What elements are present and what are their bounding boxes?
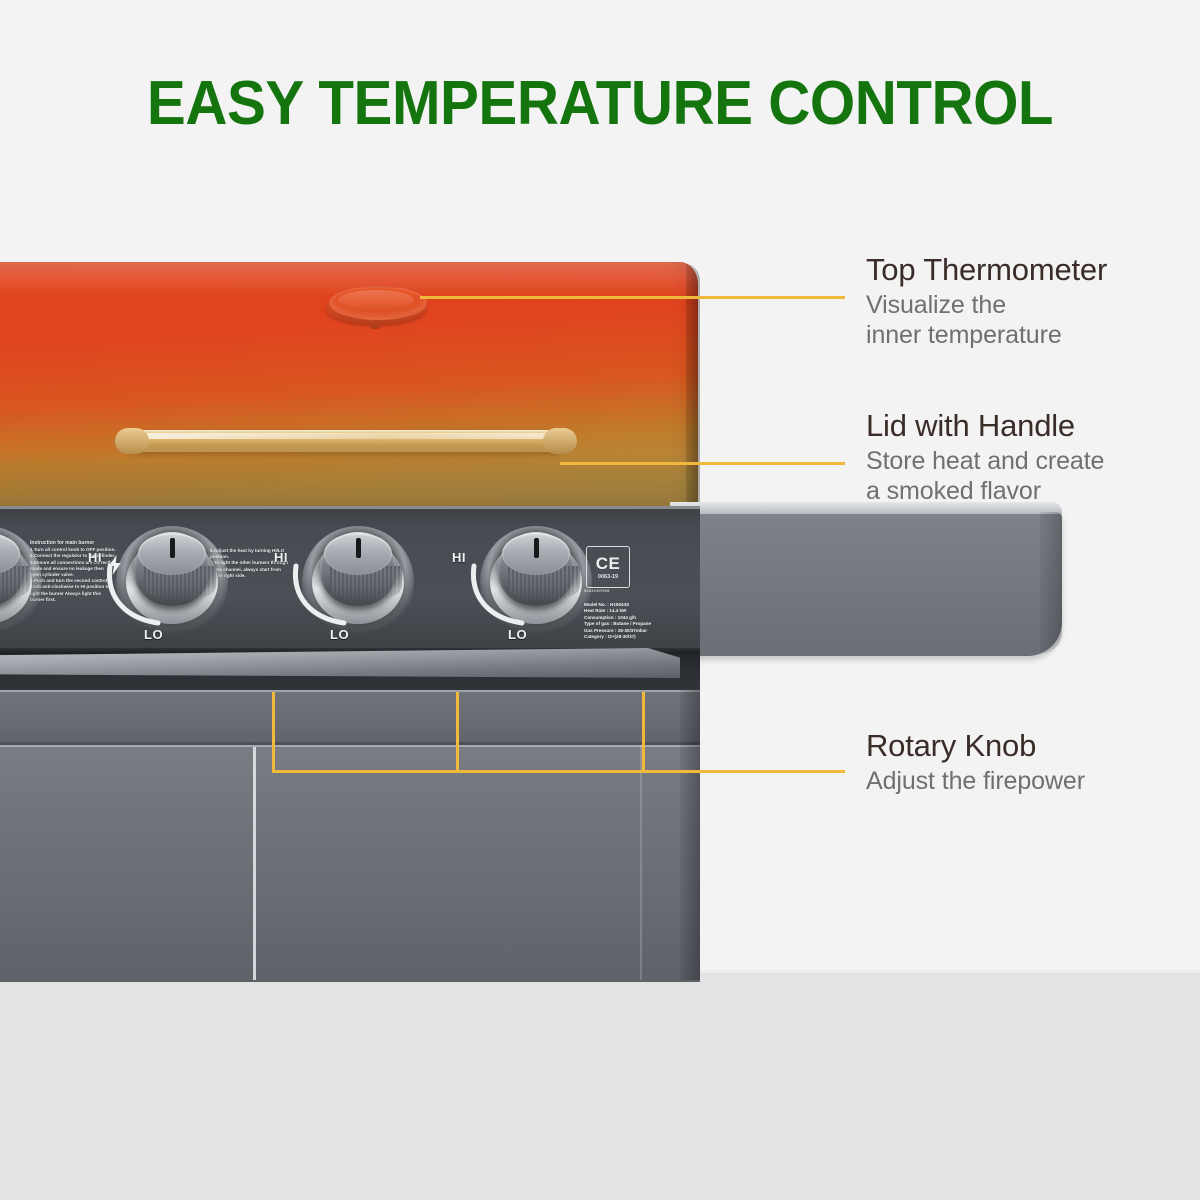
knob-pointer (356, 538, 361, 558)
spec-line: Heat Rate : 14.4 kW (584, 608, 626, 613)
page-title: EASY TEMPERATURE CONTROL (36, 68, 1164, 139)
leader-line-handle (560, 462, 845, 465)
callout-desc-line-1: Store heat and create (866, 446, 1200, 476)
grill-product-image: Sunny Instruction for main burner 1.Turn… (0, 250, 830, 980)
knob-4-lo-label: LO (508, 627, 527, 642)
lid-handle (125, 428, 565, 454)
instruction-step: 1.Turn all control knob to OFF position. (30, 547, 116, 552)
callout-desc-line-2: a smoked flavor (866, 476, 1200, 506)
knob-pointer (534, 538, 539, 558)
knob-4-range-arc (460, 562, 552, 630)
instruction-step: 2.Connect the regulator to the cylinder. (30, 553, 115, 558)
infographic-stage: EASY TEMPERATURE CONTROL Sunny (0, 0, 1200, 1200)
handle-end-cap-right (543, 428, 577, 454)
cabinet-right-edge (680, 690, 700, 980)
rating-plate-code: 0063CH7909 (584, 588, 610, 593)
side-shelf (670, 508, 1062, 656)
leader-line-knob-horizontal (272, 770, 845, 773)
rotary-knob-1[interactable] (0, 532, 32, 624)
callout-title: Rotary Knob (866, 728, 1200, 764)
knob-1-range-arc (0, 562, 2, 630)
knob-2-range-arc (96, 562, 188, 630)
instructions-title: Instruction for main burner (30, 540, 116, 546)
spec-line: Gas Pressure : 28-30/37mbar (584, 628, 647, 633)
cabinet-right-strip (640, 745, 642, 980)
callout-title: Top Thermometer (866, 252, 1200, 288)
background-floor (0, 972, 1200, 1200)
cabinet-doors (0, 745, 700, 982)
knob-3-lo-label: LO (330, 627, 349, 642)
knob-3-range-arc (282, 562, 374, 630)
spec-line: Type of gas : Butane / Propane (584, 621, 651, 626)
thermometer-glass (338, 290, 414, 310)
callout-lid-with-handle: Lid with Handle Store heat and create a … (866, 408, 1200, 506)
cabinet-door-seam (253, 747, 256, 980)
callout-title: Lid with Handle (866, 408, 1200, 444)
rating-plate-specs: Model No. : H15044S Heat Rate : 14.4 kW … (584, 602, 664, 640)
knob-2-lo-label: LO (144, 627, 163, 642)
callout-rotary-knob: Rotary Knob Adjust the firepower (866, 728, 1200, 796)
cabinet-top (0, 690, 700, 746)
knob-4-hi-label: HI (452, 550, 466, 565)
spec-line: Model No. : H15044S (584, 602, 629, 607)
knob-2-hi-label: HI (88, 550, 102, 565)
knob-pointer (170, 538, 175, 558)
handle-end-cap-left (115, 428, 149, 454)
ce-text: CE (596, 555, 621, 572)
spec-line: Consumption : 1044 g/h (584, 615, 636, 620)
control-panel-top-trim (0, 506, 700, 509)
callout-desc-line-2: inner temperature (866, 320, 1200, 350)
handle-highlight (141, 433, 549, 439)
spec-line: Category : I3+(28-30/37) (584, 634, 636, 639)
ce-mark-badge: CE 0063-19 (586, 546, 630, 588)
leader-tick-knob-1 (272, 692, 275, 773)
top-thermometer (326, 286, 426, 328)
callout-top-thermometer: Top Thermometer Visualize the inner temp… (866, 252, 1200, 350)
knob-3-hi-label: HI (274, 550, 288, 565)
leader-tick-knob-2 (456, 692, 459, 773)
side-shelf-right-edge (1040, 512, 1062, 654)
lid-right-edge (686, 264, 700, 512)
leader-tick-knob-3 (642, 692, 645, 773)
callout-desc-line-1: Adjust the firepower (866, 766, 1200, 796)
callout-desc-line-1: Visualize the (866, 290, 1200, 320)
leader-line-thermometer (420, 296, 845, 299)
ce-notified-body-number: 0063-19 (598, 574, 618, 580)
thermometer-stem (370, 320, 380, 329)
